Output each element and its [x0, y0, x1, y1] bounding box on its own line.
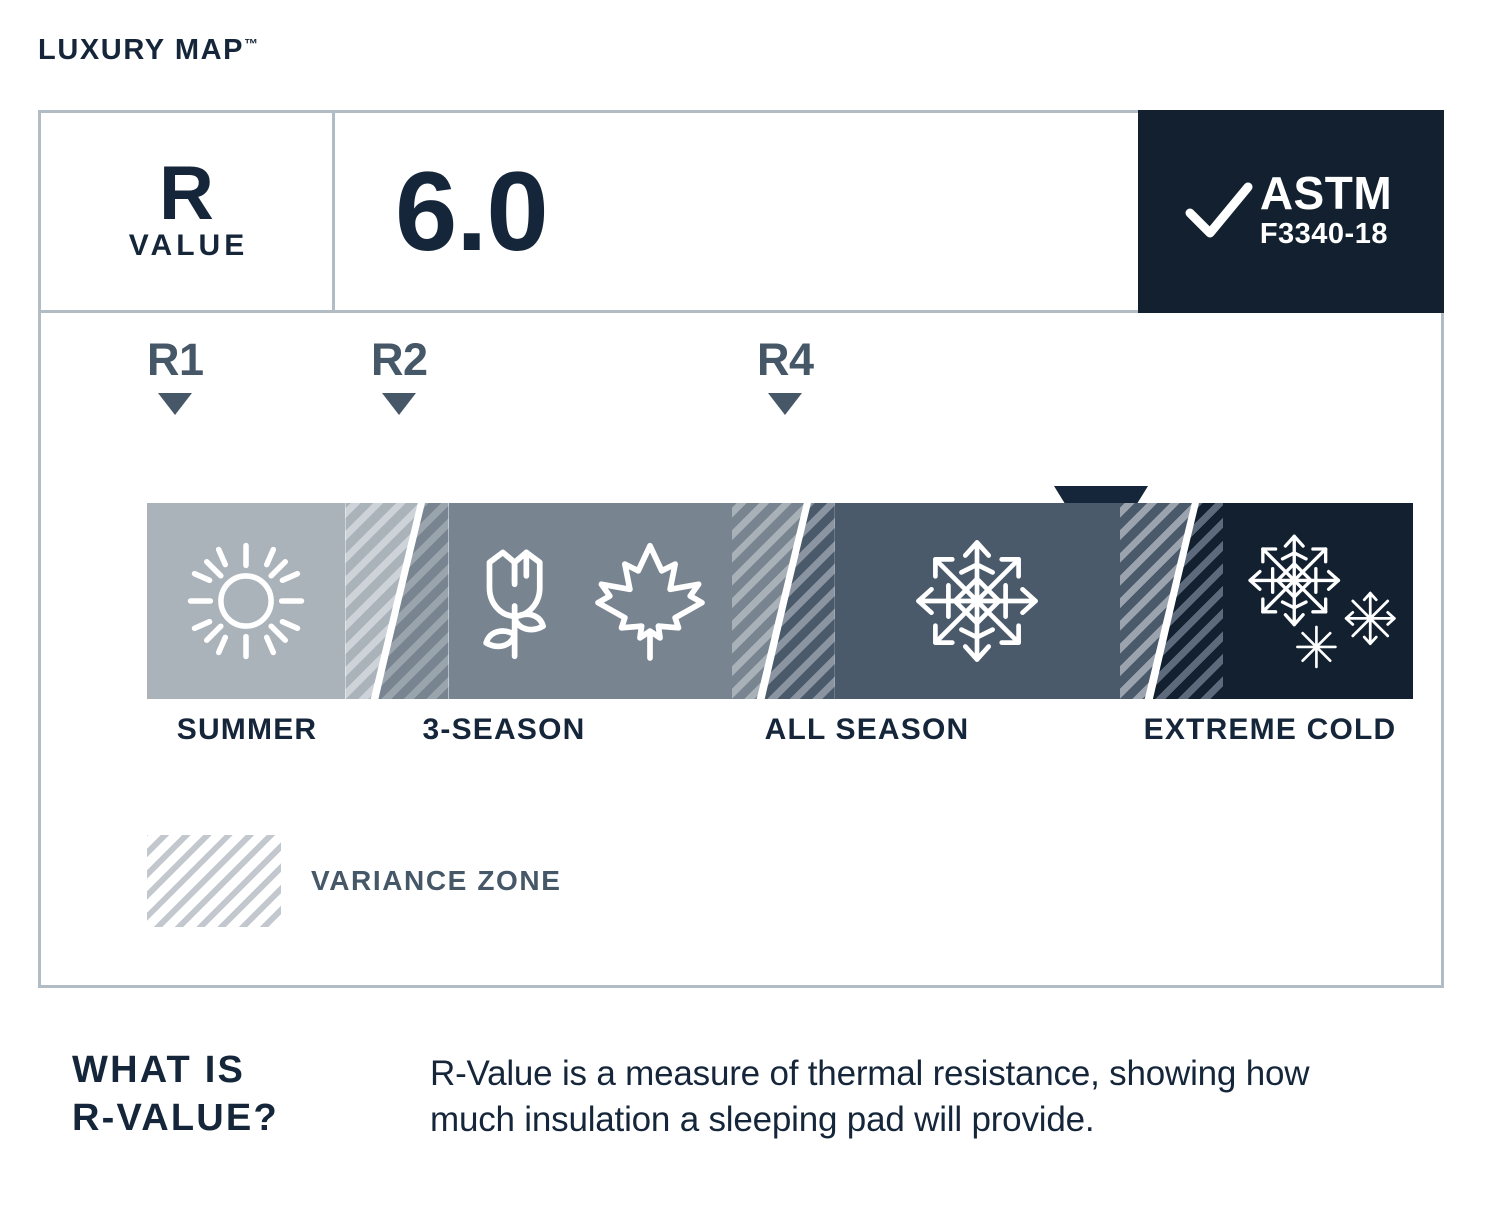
season-label-extreme-cold: EXTREME COLD: [1144, 713, 1397, 747]
r-value-number-cell: 6.0: [335, 110, 1138, 313]
season-labels: SUMMER 3-SEASON ALL SEASON EXTREME COLD: [147, 713, 1413, 763]
snowflake-small-icon: [1297, 627, 1335, 667]
summer-icon-group: [180, 535, 312, 667]
season-label-3-season: 3-SEASON: [423, 713, 586, 747]
trademark-symbol: ™: [244, 35, 258, 51]
value-word: VALUE: [125, 228, 248, 264]
triangle-down-icon: [382, 393, 416, 415]
snowflake-cluster-icon: [1223, 521, 1413, 681]
what-is-r-value-section: WHAT IS R-VALUE? R-Value is a measure of…: [72, 1047, 1432, 1143]
all-season-icon-group: [912, 536, 1042, 666]
r-letter: R: [159, 159, 214, 229]
scale-marker-r4-label: R4: [757, 337, 814, 382]
variance-zone-legend: VARIANCE ZONE: [147, 835, 562, 927]
temperature-scale-area: R1 R2 R4: [41, 313, 1441, 988]
r-value-card: R VALUE 6.0 ASTM F3340-18 R1: [38, 110, 1444, 988]
season-label-summer: SUMMER: [177, 713, 318, 747]
astm-badge: ASTM F3340-18: [1138, 110, 1444, 313]
triangle-down-icon: [768, 393, 802, 415]
scale-marker-r4: R4: [757, 337, 814, 415]
r-value-label-cell: R VALUE: [38, 110, 335, 313]
scale-segment-extreme-cold: [1223, 503, 1413, 699]
snowflake-large-icon: [1250, 536, 1338, 624]
r-value-scale-bar: [147, 503, 1413, 699]
card-header: R VALUE 6.0 ASTM F3340-18: [38, 110, 1444, 313]
scale-markers: R1 R2 R4: [41, 313, 1441, 503]
season-label-all-season: ALL SEASON: [765, 713, 970, 747]
astm-standard: ASTM: [1260, 170, 1392, 216]
extreme-cold-icon-group: [1223, 521, 1413, 681]
sun-icon: [180, 535, 312, 667]
r-value-number: 6.0: [395, 156, 548, 268]
footer-body-text: R-Value is a measure of thermal resistan…: [430, 1047, 1390, 1142]
astm-spec: F3340-18: [1260, 216, 1388, 252]
variance-zone-3: [1120, 503, 1223, 699]
check-icon: [1184, 177, 1254, 247]
scale-marker-r1-label: R1: [147, 337, 204, 382]
variance-zone-legend-label: VARIANCE ZONE: [311, 865, 562, 897]
r-value-infographic: LUXURY MAP™ R VALUE 6.0 ASTM F3340-18: [0, 0, 1500, 1207]
brand-name: LUXURY MAP: [38, 34, 244, 66]
scale-segment-summer: [147, 503, 345, 699]
scale-segment-all-season: [835, 503, 1120, 699]
scale-marker-r2-label: R2: [371, 337, 428, 382]
variance-zone-2: [732, 503, 835, 699]
astm-text-block: ASTM F3340-18: [1260, 170, 1392, 252]
scale-segment-3-season: [449, 503, 732, 699]
scale-marker-r2: R2: [371, 337, 428, 415]
maple-leaf-icon: [591, 539, 709, 663]
page-title: LUXURY MAP™: [38, 36, 258, 65]
snowflake-medium-icon: [1346, 593, 1394, 644]
triangle-down-icon: [158, 393, 192, 415]
diagonal-hatch-swatch: [147, 835, 281, 927]
footer-heading: WHAT IS R-VALUE?: [72, 1047, 402, 1143]
tulip-icon: [471, 539, 575, 663]
three-season-icon-group: [471, 539, 709, 663]
variance-zone-1: [345, 503, 448, 699]
snowflake-icon: [912, 536, 1042, 666]
scale-marker-r1: R1: [147, 337, 204, 415]
